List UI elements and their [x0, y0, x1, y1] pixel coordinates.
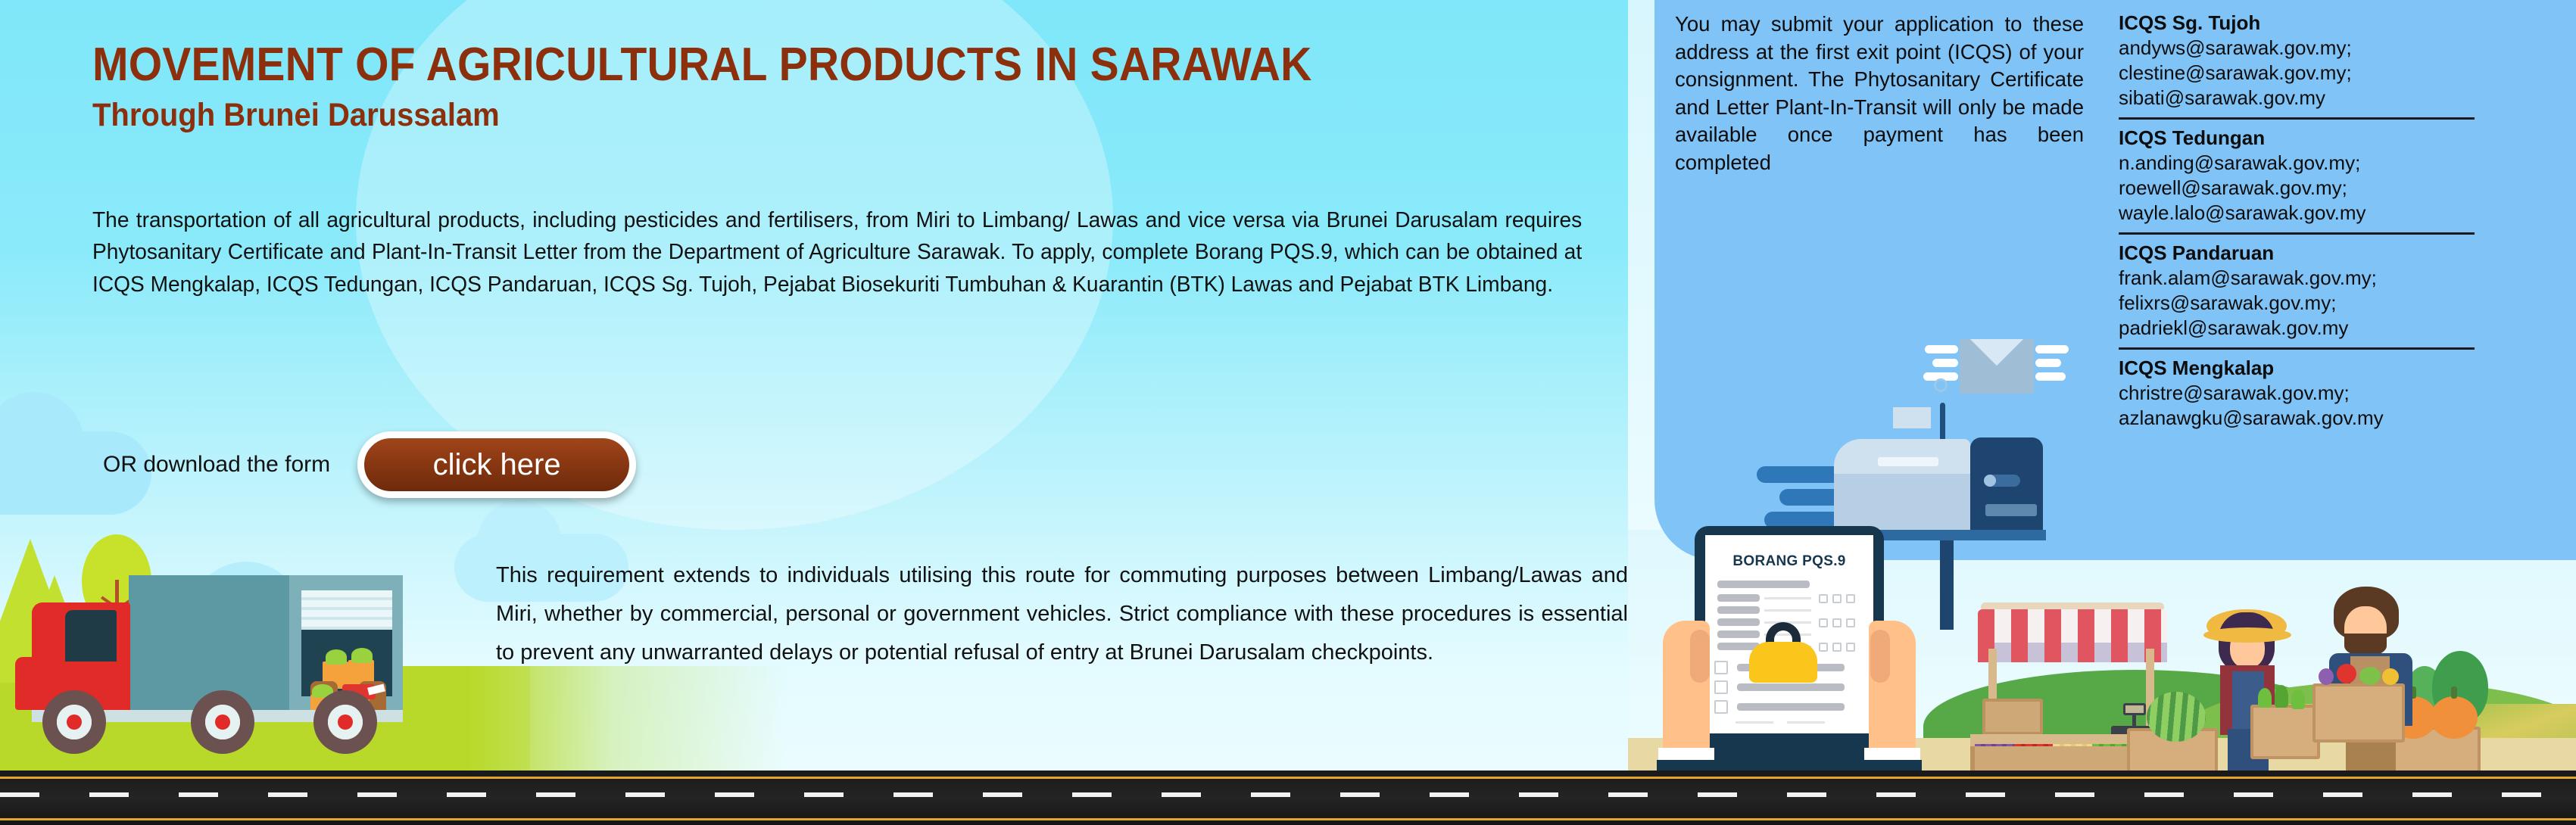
bubble-decoration	[1934, 378, 1948, 392]
contact-email[interactable]: wayle.lalo@sarawak.gov.my	[2119, 201, 2475, 226]
submission-instructions: You may submit your application to these…	[1675, 11, 2084, 176]
download-row: OR download the form click here	[103, 431, 636, 498]
contact-name: ICQS Tedungan	[2119, 126, 2475, 151]
form-title: BORANG PQS.9	[1705, 553, 1873, 570]
contact-email[interactable]: azlanawgku@sarawak.gov.my	[2119, 406, 2475, 431]
contact-email[interactable]: felixrs@sarawak.gov.my;	[2119, 291, 2475, 316]
contact-email[interactable]: clestine@sarawak.gov.my;	[2119, 61, 2475, 86]
contact-group: ICQS Tedungan n.anding@sarawak.gov.my; r…	[2119, 117, 2475, 232]
contact-email[interactable]: andyws@sarawak.gov.my;	[2119, 36, 2475, 61]
contact-email[interactable]: padriekl@sarawak.gov.my	[2119, 316, 2475, 341]
farmer-female-illustration	[2196, 602, 2302, 787]
contact-email[interactable]: christre@sarawak.gov.my;	[2119, 381, 2475, 406]
contact-name: ICQS Pandaruan	[2119, 241, 2475, 266]
envelope-icon	[1960, 339, 2034, 394]
truck-cargo	[309, 642, 388, 698]
road-dashes	[0, 792, 2576, 797]
lock-icon	[1749, 634, 1817, 681]
thumb-right	[1870, 630, 1890, 683]
click-here-button[interactable]: click here	[357, 431, 636, 498]
contact-list: ICQS Sg. Tujoh andyws@sarawak.gov.my; cl…	[2119, 11, 2475, 437]
body-paragraph-2: This requirement extends to individuals …	[496, 556, 1628, 671]
infographic-banner: MOVEMENT OF AGRICULTURAL PRODUCTS IN SAR…	[0, 0, 2576, 825]
contact-group: ICQS Pandaruan frank.alam@sarawak.gov.my…	[2119, 232, 2475, 347]
grass-fade	[469, 666, 787, 772]
contact-email[interactable]: n.anding@sarawak.gov.my;	[2119, 151, 2475, 176]
contact-email[interactable]: sibati@sarawak.gov.my	[2119, 86, 2475, 111]
road-edge-line	[0, 777, 2576, 779]
page-subtitle: Through Brunei Darussalam	[92, 97, 500, 134]
contact-email[interactable]: frank.alam@sarawak.gov.my;	[2119, 266, 2475, 291]
contact-group: ICQS Sg. Tujoh andyws@sarawak.gov.my; cl…	[2119, 11, 2475, 117]
body-paragraph-1: The transportation of all agricultural p…	[92, 204, 1582, 300]
thumb-left	[1690, 630, 1710, 683]
contact-name: ICQS Mengkalap	[2119, 356, 2475, 381]
road-edge-line	[0, 818, 2576, 820]
contact-name: ICQS Sg. Tujoh	[2119, 11, 2475, 36]
contact-group: ICQS Mengkalap christre@sarawak.gov.my; …	[2119, 347, 2475, 437]
download-label: OR download the form	[103, 452, 330, 478]
delivery-truck-illustration	[15, 575, 409, 772]
farmer-male-illustration	[2317, 587, 2431, 789]
contact-email[interactable]: roewell@sarawak.gov.my;	[2119, 176, 2475, 201]
page-title: MOVEMENT OF AGRICULTURAL PRODUCTS IN SAR…	[92, 38, 1311, 92]
